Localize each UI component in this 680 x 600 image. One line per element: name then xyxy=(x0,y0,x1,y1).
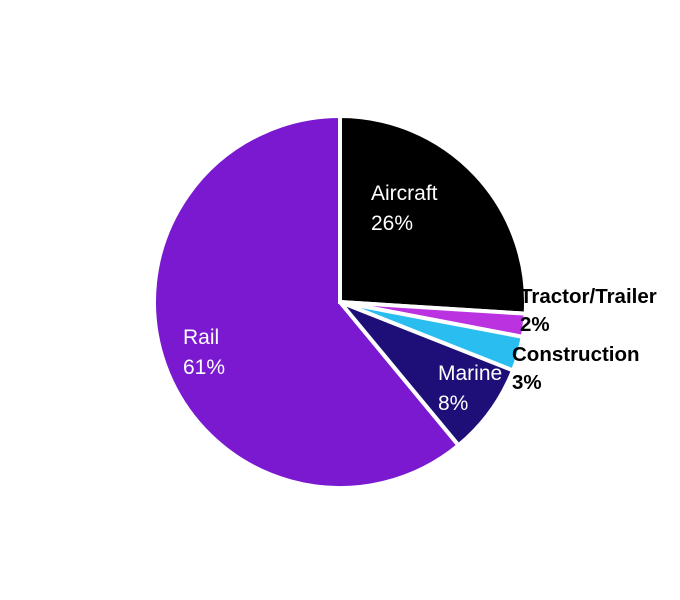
pie-slice-aircraft[interactable] xyxy=(340,116,526,314)
pie-label-marine-value: 8% xyxy=(438,392,468,415)
pie-label-marine-name: Marine xyxy=(438,362,502,385)
pie-label-construction-value: 3% xyxy=(512,371,542,394)
pie-label-rail-name: Rail xyxy=(183,326,219,349)
pie-label-aircraft-name: Aircraft xyxy=(371,182,438,205)
pie-label-aircraft-value: 26% xyxy=(371,212,413,235)
pie-label-tractor-trailer-name: Tractor/Trailer xyxy=(520,285,657,308)
pie-chart-figure: Aircraft 26% Rail 61% Marine 8% Tractor/… xyxy=(0,0,680,600)
pie-label-tractor-trailer-value: 2% xyxy=(520,313,550,336)
pie-label-construction-name: Construction xyxy=(512,343,640,366)
pie-chart-canvas: Aircraft 26% Rail 61% Marine 8% Tractor/… xyxy=(0,0,680,600)
pie-label-rail-value: 61% xyxy=(183,356,225,379)
